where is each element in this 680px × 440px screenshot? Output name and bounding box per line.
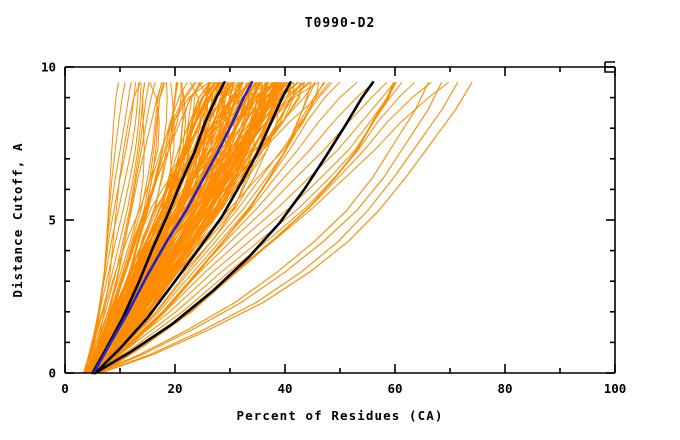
x-tick-label: 60 [387, 381, 402, 396]
chart-canvas: 0204060801000510 Percent of Residues (CA… [0, 0, 680, 440]
x-tick-label: 100 [604, 381, 627, 396]
x-tick-label: 40 [277, 381, 292, 396]
y-axis-title: Distance Cutoff, A [10, 142, 25, 297]
x-tick-label: 0 [61, 381, 69, 396]
y-tick-label: 5 [48, 213, 56, 228]
distance-cutoff-plot: 0204060801000510 Percent of Residues (CA… [0, 0, 680, 440]
y-tick-label: 0 [48, 366, 56, 381]
y-tick-label: 10 [41, 60, 56, 75]
ensemble-curves [83, 82, 472, 373]
plot-window: T0990-D2 0204060801000510 Percent of Res… [0, 0, 680, 440]
x-tick-label: 80 [497, 381, 512, 396]
x-tick-label: 20 [167, 381, 182, 396]
x-axis-title: Percent of Residues (CA) [236, 408, 443, 423]
